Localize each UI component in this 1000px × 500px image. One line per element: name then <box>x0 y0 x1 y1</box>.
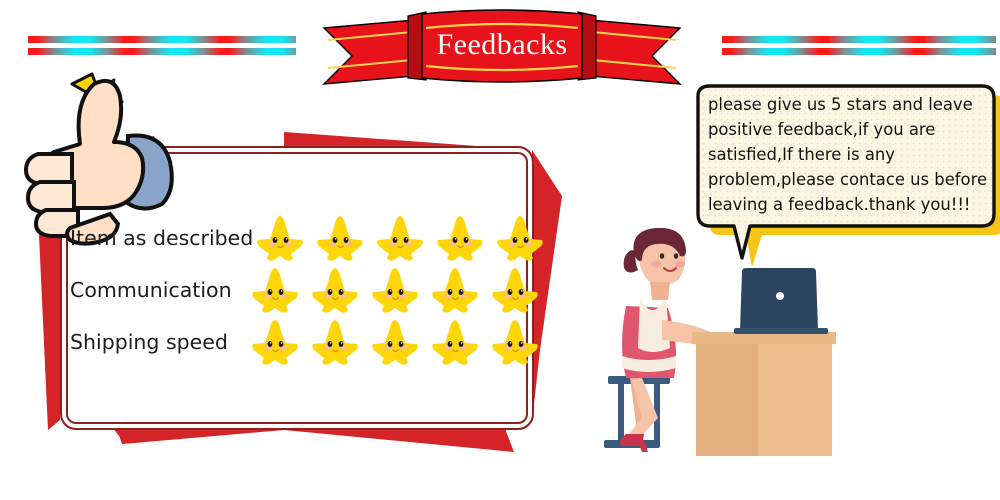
laptop-logo <box>776 292 784 300</box>
rating-label-shipping-speed: Shipping speed <box>70 330 248 354</box>
star-icon[interactable] <box>370 317 420 367</box>
rating-row: Item as described <box>70 212 540 264</box>
bubble-message: please give us 5 stars and leave positiv… <box>708 92 990 217</box>
feedback-banner-graphic: Feedbacks <box>0 0 1000 500</box>
rating-row: Communication <box>70 264 540 316</box>
star-icon[interactable] <box>255 213 305 263</box>
laptop-base <box>734 328 828 334</box>
star-icon[interactable] <box>310 317 360 367</box>
stripe-line <box>28 36 296 43</box>
ribbon-banner: Feedbacks <box>322 2 682 88</box>
banner-title: Feedbacks <box>322 28 682 62</box>
star-icon[interactable] <box>490 317 540 367</box>
star-icon[interactable] <box>495 213 545 263</box>
rating-label-communication: Communication <box>70 278 248 302</box>
star-rating-shipping-speed[interactable] <box>250 317 540 367</box>
star-icon[interactable] <box>375 213 425 263</box>
star-icon[interactable] <box>250 265 300 315</box>
star-icon[interactable] <box>250 317 300 367</box>
speech-bubble: please give us 5 stars and leave positiv… <box>690 82 1000 282</box>
star-icon[interactable] <box>315 213 365 263</box>
stripe-line <box>28 48 296 55</box>
rating-row: Shipping speed <box>70 316 540 368</box>
star-icon[interactable] <box>435 213 485 263</box>
stripe-line <box>722 36 996 43</box>
star-icon[interactable] <box>370 265 420 315</box>
stripe-line <box>722 48 996 55</box>
star-icon[interactable] <box>310 265 360 315</box>
decorative-stripe-left <box>28 36 296 55</box>
decorative-stripe-right <box>722 36 996 55</box>
star-rating-communication[interactable] <box>250 265 540 315</box>
rating-rows: Item as described Communication Shipping… <box>70 212 540 368</box>
star-icon[interactable] <box>430 265 480 315</box>
star-icon[interactable] <box>490 265 540 315</box>
star-icon[interactable] <box>430 317 480 367</box>
star-rating-item-as-described[interactable] <box>255 213 545 263</box>
rating-label-item-as-described: Item as described <box>70 226 253 250</box>
